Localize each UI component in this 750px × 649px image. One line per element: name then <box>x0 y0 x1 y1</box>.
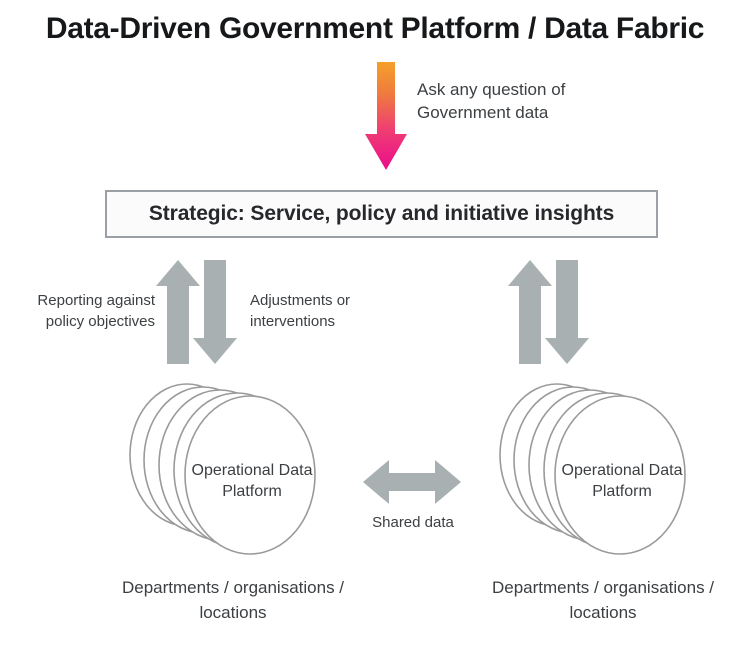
left-departments-caption: Departments / organisations / locations <box>118 575 348 625</box>
reporting-flow-label: Reporting against policy objectives <box>10 290 155 332</box>
strategic-insights-label: Strategic: Service, policy and initiativ… <box>149 202 614 226</box>
right-operational-platform-stack: Operational Data Platform <box>492 372 702 562</box>
disc-1-front <box>555 396 685 554</box>
right-disc-stack-graphic <box>492 372 702 562</box>
left-disc-stack-graphic <box>122 372 332 562</box>
page-title: Data-Driven Government Platform / Data F… <box>0 12 750 46</box>
shared-data-arrow <box>363 460 461 504</box>
right-up-arrow <box>508 260 552 364</box>
strategic-insights-box: Strategic: Service, policy and initiativ… <box>105 190 658 238</box>
left-down-arrow <box>193 260 237 364</box>
right-down-arrow <box>545 260 589 364</box>
left-up-arrow <box>156 260 200 364</box>
left-bidirectional-arrows <box>156 260 248 364</box>
right-departments-caption: Departments / organisations / locations <box>488 575 718 625</box>
adjustments-flow-label: Adjustments or interventions <box>250 290 430 332</box>
left-operational-platform-stack: Operational Data Platform <box>122 372 332 562</box>
ask-question-gradient-arrow <box>364 62 408 172</box>
disc-1-front <box>185 396 315 554</box>
diagram-canvas: Data-Driven Government Platform / Data F… <box>0 0 750 649</box>
ask-question-label: Ask any question of Government data <box>417 78 627 124</box>
shared-data-label: Shared data <box>343 514 483 531</box>
right-bidirectional-arrows <box>508 260 600 364</box>
